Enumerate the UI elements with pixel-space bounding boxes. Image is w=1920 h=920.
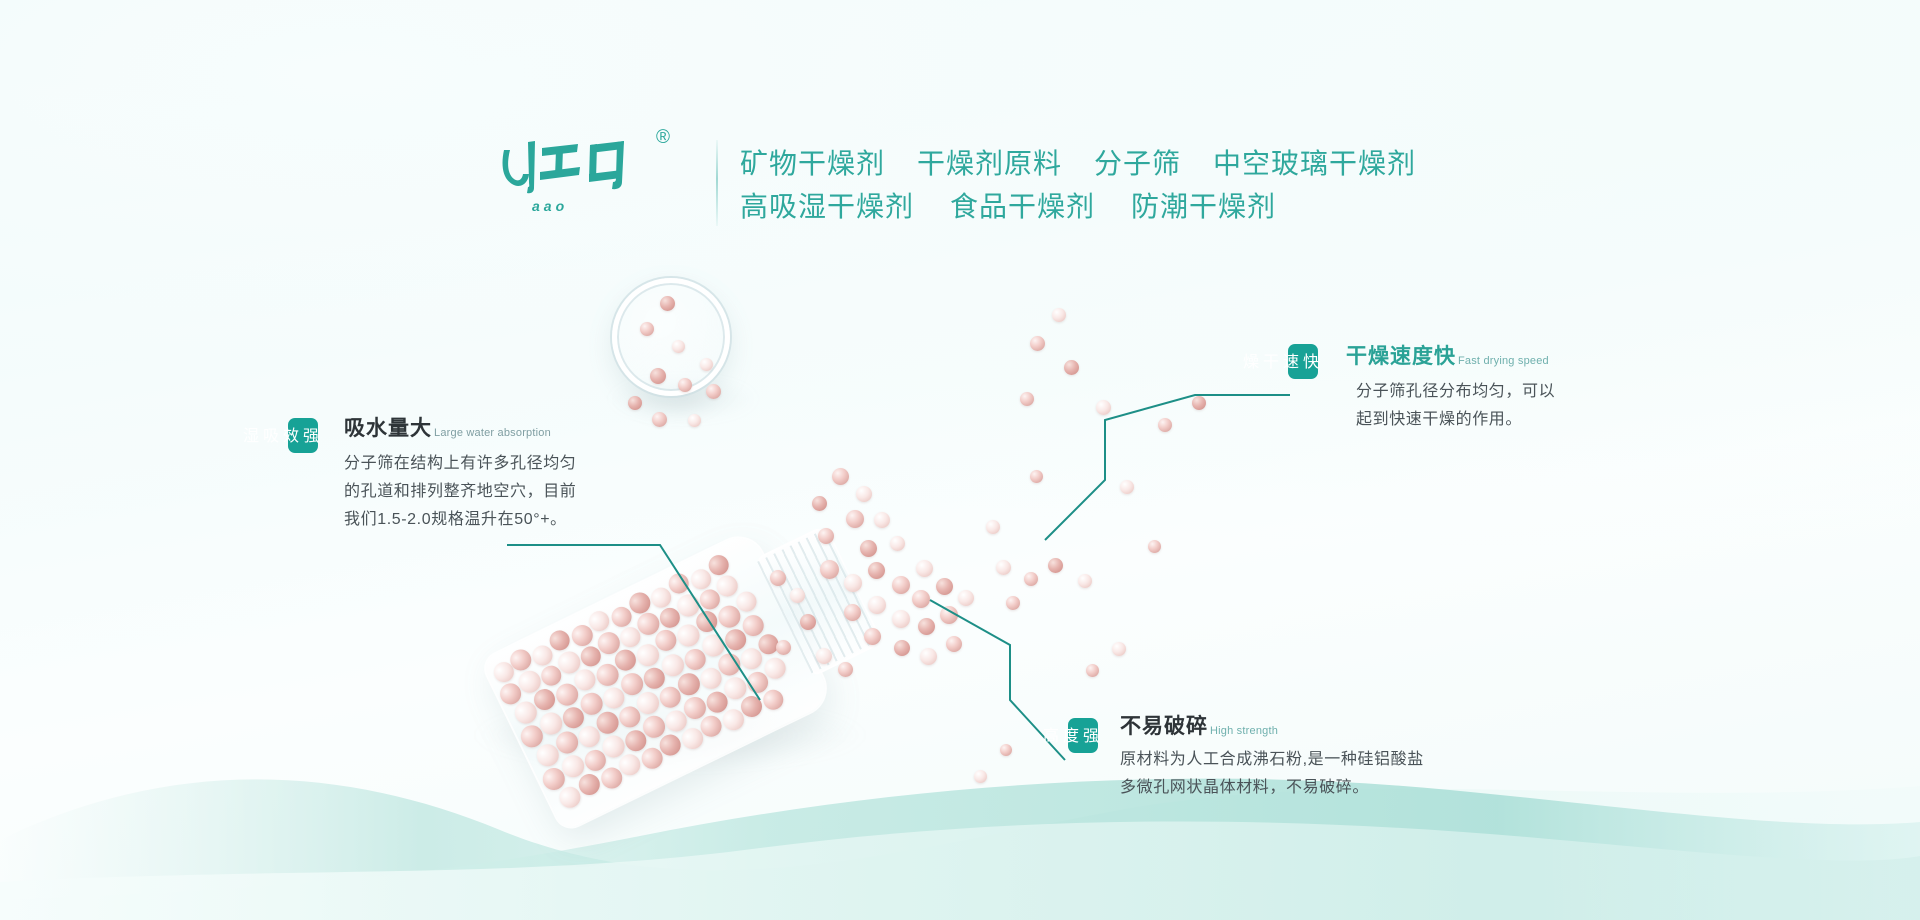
bead — [1048, 558, 1063, 573]
bead — [1000, 744, 1012, 756]
bead — [650, 368, 666, 384]
callout-text-block: 分子筛在结构上有许多孔径均匀 的孔道和排列整齐地空穴，目前 我们1.5-2.0规… — [344, 450, 576, 534]
nav-item-molecular-sieve[interactable]: 分子筛 — [1094, 142, 1181, 182]
bead — [700, 358, 713, 371]
bead — [706, 384, 721, 399]
bead — [660, 296, 675, 311]
bead — [868, 562, 885, 579]
nav-item-food-desiccant[interactable]: 食品干燥剂 — [950, 185, 1095, 225]
callout-text-line: 多微孔网状晶体材料，不易破碎。 — [1120, 774, 1424, 802]
callout-title-en: Large water absorption — [434, 427, 551, 442]
callout-title-en: High strength — [1210, 725, 1278, 740]
bead — [918, 618, 935, 635]
bead — [628, 396, 642, 410]
bead — [800, 614, 816, 630]
nav-item-high-moisture-absorption-desiccant[interactable]: 高吸湿干燥剂 — [740, 185, 914, 225]
registered-trademark-icon: ® — [656, 128, 670, 147]
bead — [844, 574, 862, 592]
bead — [868, 596, 886, 614]
keyword-nav-row-2: 高吸湿干燥剂 食品干燥剂 防潮干燥剂 — [740, 183, 1740, 226]
bead — [860, 540, 877, 557]
callout-text-line: 起到快速干燥的作用。 — [1356, 406, 1555, 434]
bead — [890, 536, 905, 551]
bead — [1030, 336, 1045, 351]
bead — [996, 560, 1011, 575]
bead — [912, 590, 930, 608]
bead — [812, 496, 827, 511]
bead — [1052, 308, 1066, 322]
callout-badge-high-strength: 强度高 — [1068, 718, 1098, 753]
banner-header: ® aao 矿物干燥剂 干燥剂原料 分子筛 中空玻璃干燥剂 高吸湿干燥剂 食品干… — [0, 0, 1920, 260]
bead — [832, 468, 849, 485]
callout-title: 干燥速度快 — [1346, 340, 1456, 370]
bead — [974, 770, 987, 783]
bottle-cap-ring — [612, 278, 730, 396]
bead — [1120, 480, 1134, 494]
bead — [986, 520, 1000, 534]
bead — [844, 604, 861, 621]
callout-heading-row: 吸水量大 Large water absorption — [344, 412, 576, 442]
bead — [1020, 392, 1034, 406]
bead — [790, 588, 805, 603]
nav-item-desiccant-raw-material[interactable]: 干燥剂原料 — [917, 142, 1062, 182]
bead — [874, 512, 890, 528]
bead — [916, 560, 933, 577]
callout-text-line: 我们1.5-2.0规格温升在50°+。 — [344, 506, 576, 534]
bead — [688, 414, 701, 427]
bead — [846, 510, 864, 528]
callout-title: 吸水量大 — [344, 412, 432, 442]
callout-text-line: 分子筛在结构上有许多孔径均匀 — [344, 450, 576, 478]
bead — [1006, 596, 1020, 610]
bead — [820, 560, 839, 579]
bead — [1086, 664, 1099, 677]
callout-heading-row: 干燥速度快 Fast drying speed — [1346, 340, 1555, 370]
keyword-nav-row-1: 矿物干燥剂 干燥剂原料 分子筛 中空玻璃干燥剂 — [740, 140, 1740, 183]
bead — [1148, 540, 1161, 553]
bead — [1096, 400, 1111, 415]
bead — [1030, 470, 1043, 483]
bead — [818, 528, 834, 544]
bead — [1078, 574, 1092, 588]
nav-item-moisture-proof-desiccant[interactable]: 防潮干燥剂 — [1131, 185, 1276, 225]
bead — [1112, 642, 1126, 656]
bead — [816, 648, 832, 664]
logo-wordmark-icon — [498, 136, 648, 198]
bead — [776, 640, 791, 655]
bead — [770, 570, 786, 586]
brand-logo[interactable]: ® aao — [498, 136, 648, 210]
bead — [838, 662, 853, 677]
bead — [856, 486, 872, 502]
nav-item-insulating-glass-desiccant[interactable]: 中空玻璃干燥剂 — [1213, 142, 1416, 182]
header-divider — [716, 140, 718, 226]
bead — [946, 636, 962, 652]
logo-subtext: aao — [532, 198, 568, 214]
bead — [640, 322, 654, 336]
bead — [1158, 418, 1172, 432]
bead — [1064, 360, 1079, 375]
callout-text-line: 分子筛孔径分布均匀，可以 — [1356, 378, 1555, 406]
bead — [936, 578, 953, 595]
banner-stage: ® aao 矿物干燥剂 干燥剂原料 分子筛 中空玻璃干燥剂 高吸湿干燥剂 食品干… — [0, 0, 1920, 920]
callout-text-line: 的孔道和排列整齐地空穴，目前 — [344, 478, 576, 506]
bead — [1024, 572, 1038, 586]
bead — [940, 606, 958, 624]
callout-badge-fast-drying: 快速干燥 — [1288, 344, 1318, 379]
bead — [652, 412, 667, 427]
bead — [678, 378, 692, 392]
bead — [894, 640, 910, 656]
bead — [892, 576, 910, 594]
nav-item-mineral-desiccant[interactable]: 矿物干燥剂 — [740, 142, 885, 182]
bead — [1192, 396, 1206, 410]
callout-text-block: 原材料为人工合成沸石粉,是一种硅铝酸盐 多微孔网状晶体材料，不易破碎。 — [1120, 746, 1424, 802]
bead — [672, 340, 685, 353]
bead — [864, 628, 881, 645]
callout-title: 不易破碎 — [1120, 710, 1208, 740]
callout-heading-row: 不易破碎 High strength — [1120, 710, 1424, 740]
bead — [958, 590, 974, 606]
keyword-nav: 矿物干燥剂 干燥剂原料 分子筛 中空玻璃干燥剂 高吸湿干燥剂 食品干燥剂 防潮干… — [740, 140, 1740, 226]
bead — [892, 610, 910, 628]
callout-badge-water-absorption: 强效吸湿 — [288, 418, 318, 453]
callout-title-en: Fast drying speed — [1458, 355, 1549, 370]
callout-text-line: 原材料为人工合成沸石粉,是一种硅铝酸盐 — [1120, 746, 1424, 774]
bead — [920, 648, 937, 665]
callout-text-block: 分子筛孔径分布均匀，可以 起到快速干燥的作用。 — [1356, 378, 1555, 434]
